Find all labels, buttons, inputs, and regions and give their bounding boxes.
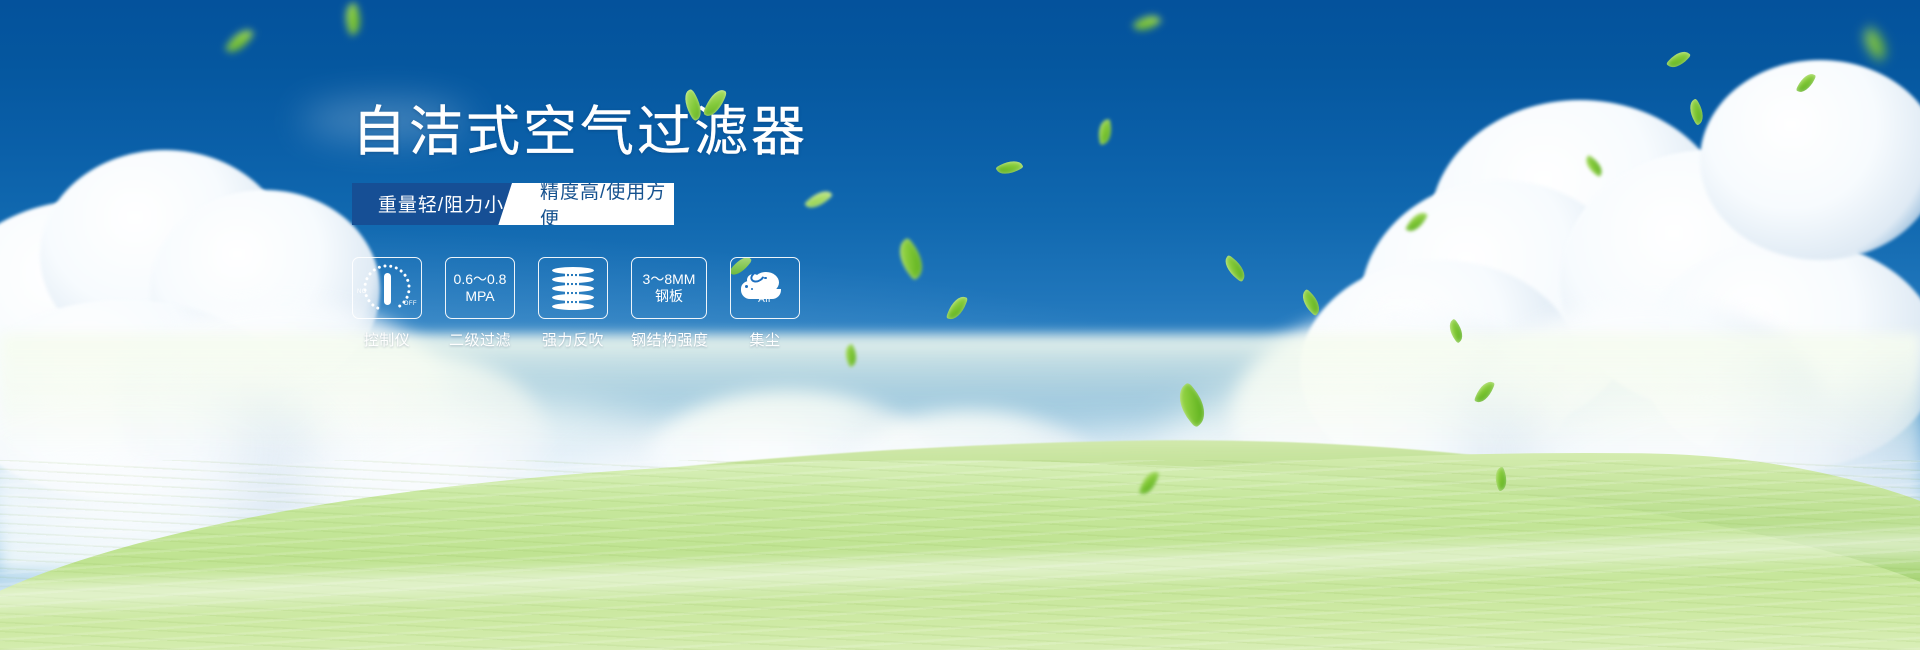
feature-item-backblow[interactable]: 强力反吹 — [538, 257, 608, 350]
pressure-line-2: MPA — [454, 288, 507, 305]
feature-icon-row: NO OFF 控制仪 0.6～0.8 MPA 二级过滤 — [352, 257, 1052, 350]
steel-line-2: 钢板 — [643, 288, 696, 305]
hero-banner: 自洁式空气过滤器 重量轻/阻力小 精度高/使用方便 — [0, 0, 1920, 650]
feature-item-pressure[interactable]: 0.6～0.8 MPA 二级过滤 — [445, 257, 515, 350]
feature-item-steel[interactable]: 3～8MM 钢板 钢结构强度 — [631, 257, 707, 350]
title-leaf-icon — [682, 88, 742, 124]
dust-cloud-icon: Air — [739, 268, 791, 308]
steel-line-1: 3～8MM — [643, 271, 696, 287]
tagline-badge: 重量轻/阻力小 精度高/使用方便 — [352, 183, 674, 225]
gauge-icon: NO OFF — [360, 265, 414, 311]
feature-icon-box — [538, 257, 608, 319]
tagline-right: 精度高/使用方便 — [530, 183, 674, 225]
feature-item-controller[interactable]: NO OFF 控制仪 — [352, 257, 422, 350]
feature-label: 集尘 — [730, 329, 800, 350]
pressure-text-icon: 0.6～0.8 MPA — [454, 271, 507, 305]
gauge-label-off: OFF — [404, 301, 417, 307]
filter-stack-icon — [552, 265, 594, 311]
feature-item-dust[interactable]: Air 集尘 — [730, 257, 800, 350]
steel-thickness-text-icon: 3～8MM 钢板 — [643, 271, 696, 305]
feature-label: 强力反吹 — [538, 329, 608, 350]
feature-icon-box: NO OFF — [352, 257, 422, 319]
feature-label: 钢结构强度 — [631, 329, 707, 350]
grass-field — [0, 340, 1920, 650]
pressure-line-1: 0.6～0.8 — [454, 271, 507, 287]
feature-label: 控制仪 — [352, 329, 422, 350]
feature-label: 二级过滤 — [445, 329, 515, 350]
dust-icon-caption: Air — [739, 294, 791, 305]
hero-content: 自洁式空气过滤器 重量轻/阻力小 精度高/使用方便 — [352, 104, 1052, 350]
feature-icon-box: 3～8MM 钢板 — [631, 257, 707, 319]
feature-icon-box: Air — [730, 257, 800, 319]
feature-icon-box: 0.6～0.8 MPA — [445, 257, 515, 319]
gauge-label-no: NO — [357, 289, 367, 295]
